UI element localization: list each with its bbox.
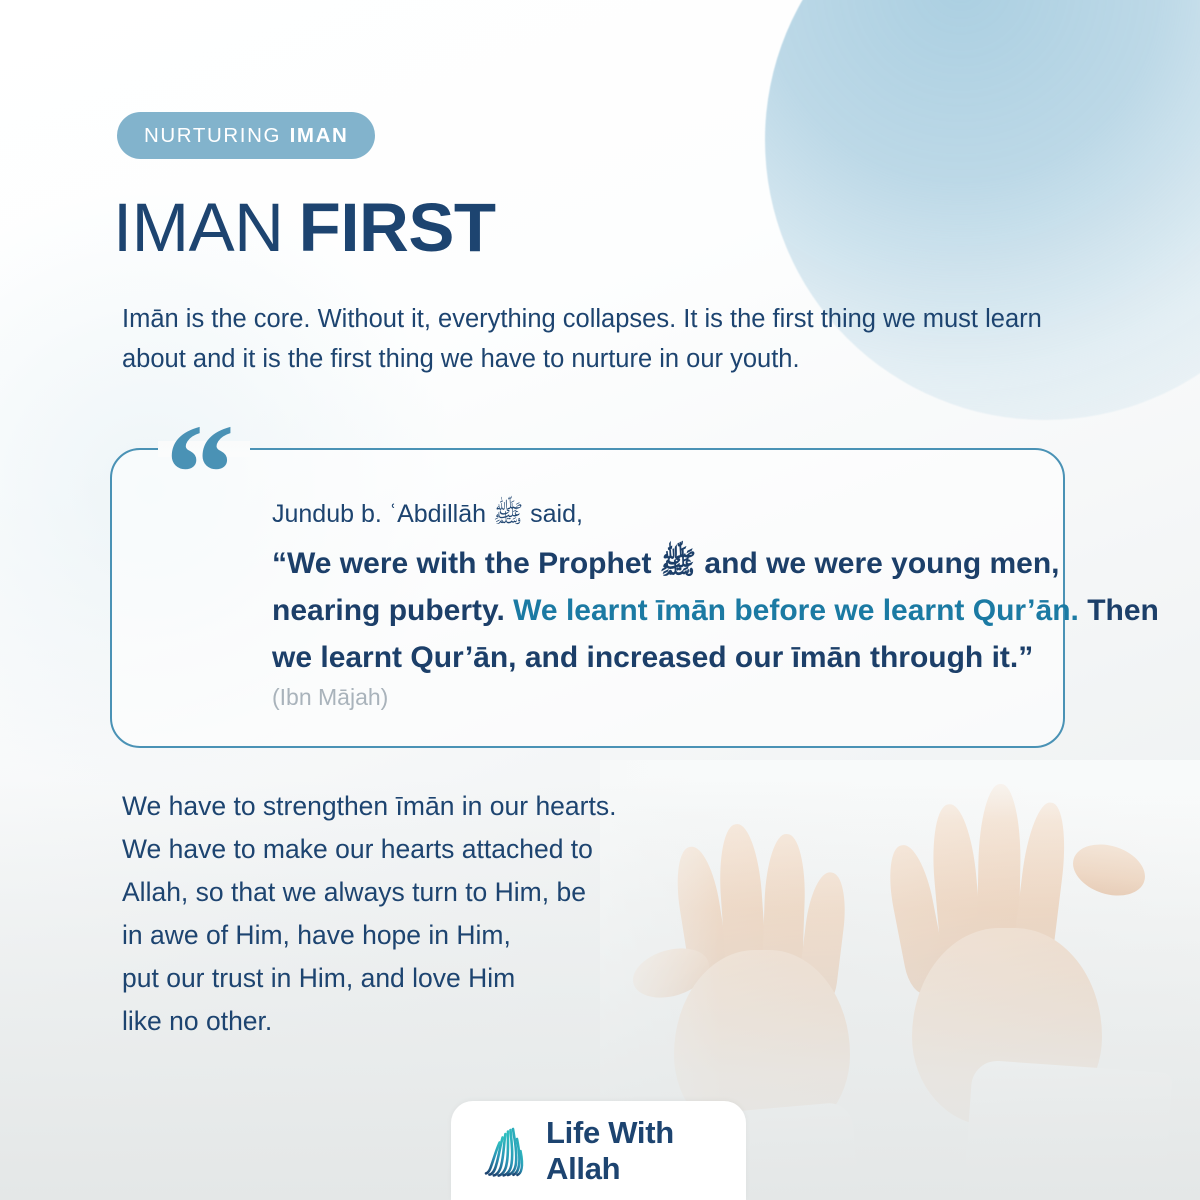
poster-canvas: NURTURING IMAN IMANFIRST Imān is the cor… [0,0,1200,1200]
hadith-narrator: Jundub b. ʿAbdillāh ﷺ said, [272,498,1072,531]
closing-line-2: We have to make our hearts attached to [122,828,616,871]
closing-line-3: Allah, so that we always turn to Him, be [122,871,616,914]
closing-line-4: in awe of Him, have hope in Him, [122,914,616,957]
closing-paragraph: We have to strengthen īmān in our hearts… [122,785,616,1043]
flame-leaf-logo-icon [483,1125,529,1177]
badge-emphasis: IMAN [290,124,349,148]
hadith-text-highlight: We learnt īmān before we learnt Qur’ān. [513,594,1079,627]
quotation-mark-icon: “ [165,404,233,544]
closing-line-1: We have to strengthen īmān in our hearts… [122,785,616,828]
category-badge: NURTURING IMAN [117,112,375,159]
badge-prefix: NURTURING [144,124,281,148]
brand-footer-card: Life With Allah [451,1101,746,1200]
brand-name: Life With Allah [546,1115,746,1187]
hadith-source: (Ibn Mājah) [272,684,388,711]
title-word-light: IMAN [113,189,284,266]
page-title: IMANFIRST [113,193,496,262]
closing-line-5: put our trust in Him, and love Him [122,957,616,1000]
closing-line-6: like no other. [122,1000,616,1043]
hadith-text: “We were with the Prophet ﷺ and we were … [272,541,1162,681]
title-word-bold: FIRST [299,189,496,266]
intro-paragraph: Imān is the core. Without it, everything… [122,300,1062,380]
